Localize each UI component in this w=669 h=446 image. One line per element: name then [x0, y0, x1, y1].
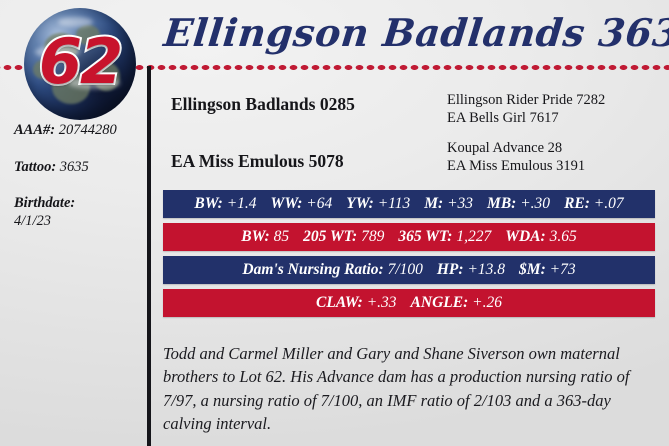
page-title: Ellingson Badlands 3635 [162, 12, 666, 53]
epd-item: RE: +.07 [564, 195, 624, 213]
epd-item: HP: +13.8 [437, 261, 505, 279]
sire-grandparents: Ellingson Rider Pride 7282 EA Bells Girl… [447, 92, 655, 128]
epd-label: ANGLE: [411, 294, 469, 311]
epd-value: +.07 [590, 195, 624, 212]
epd-value: +.30 [516, 195, 550, 212]
epd-item: MB: +.30 [487, 195, 550, 213]
epd-row: BW: +1.4WW: +64YW: +113M: +33MB: +.30RE:… [163, 190, 655, 218]
aaa-number-label: AAA#: [14, 122, 55, 138]
tattoo-label: Tattoo: [14, 159, 56, 175]
epd-value: +33 [443, 195, 473, 212]
epd-item: WW: +64 [271, 195, 333, 213]
epd-label: YW: [346, 195, 374, 212]
epd-label: HP: [437, 261, 464, 278]
lot-number: 62 [24, 8, 136, 120]
birthdate-row: Birthdate: 4/1/23 [14, 195, 140, 230]
epd-label: 365 WT: [398, 228, 452, 245]
aaa-number-value: 20744280 [59, 122, 117, 138]
dam-grandparents: Koupal Advance 28 EA Miss Emulous 3191 [447, 140, 655, 176]
epd-label: RE: [564, 195, 590, 212]
epd-value: +.26 [468, 294, 502, 311]
epd-value: +64 [302, 195, 332, 212]
epd-value: +113 [374, 195, 410, 212]
epd-label: BW: [241, 228, 269, 245]
epd-label: WDA: [505, 228, 545, 245]
epd-item: CLAW: +.33 [316, 294, 397, 312]
epd-item: BW: 85 [241, 228, 289, 246]
epd-item: ANGLE: +.26 [411, 294, 502, 312]
dam-dam-name: EA Miss Emulous 3191 [447, 158, 655, 176]
epd-value: 7/100 [384, 261, 423, 278]
epd-value: +73 [546, 261, 576, 278]
epd-label: $M: [519, 261, 546, 278]
tattoo-value: 3635 [60, 159, 89, 175]
sire-dam-name: EA Bells Girl 7617 [447, 110, 655, 128]
epd-item: 365 WT: 1,227 [398, 228, 491, 246]
birthdate-label: Birthdate: [14, 195, 75, 211]
epd-row: CLAW: +.33ANGLE: +.26 [163, 289, 655, 317]
epd-value: +1.4 [223, 195, 257, 212]
epd-item: M: +33 [424, 195, 473, 213]
epd-bars: BW: +1.4WW: +64YW: +113M: +33MB: +.30RE:… [163, 190, 655, 322]
epd-label: MB: [487, 195, 516, 212]
pedigree-parents-column: Ellingson Badlands 0285 EA Miss Emulous … [171, 92, 443, 172]
epd-item: BW: +1.4 [194, 195, 256, 213]
tattoo-row: Tattoo: 3635 [14, 159, 140, 177]
dam-name: EA Miss Emulous 5078 [171, 151, 443, 172]
epd-label: WW: [271, 195, 303, 212]
epd-label: Dam's Nursing Ratio: [242, 261, 383, 278]
epd-value: 3.65 [546, 228, 577, 245]
epd-item: $M: +73 [519, 261, 576, 279]
epd-item: 205 WT: 789 [303, 228, 384, 246]
sire-name: Ellingson Badlands 0285 [171, 94, 443, 115]
lot-description: Todd and Carmel Miller and Gary and Shan… [163, 342, 663, 436]
pedigree-grandparents-column: Ellingson Rider Pride 7282 EA Bells Girl… [447, 92, 655, 188]
epd-row: Dam's Nursing Ratio: 7/100HP: +13.8$M: +… [163, 256, 655, 284]
epd-label: BW: [194, 195, 222, 212]
aaa-number-row: AAA#: 20744280 [14, 122, 140, 140]
sire-sire-name: Ellingson Rider Pride 7282 [447, 92, 655, 110]
epd-row: BW: 85205 WT: 789365 WT: 1,227WDA: 3.65 [163, 223, 655, 251]
epd-item: YW: +113 [346, 195, 410, 213]
epd-label: M: [424, 195, 443, 212]
birthdate-value: 4/1/23 [14, 213, 140, 231]
lot-number-badge: 62 [24, 8, 136, 120]
registration-info: AAA#: 20744280 Tattoo: 3635 Birthdate: 4… [14, 122, 140, 250]
epd-value: 85 [270, 228, 289, 245]
epd-item: WDA: 3.65 [505, 228, 576, 246]
epd-value: +.33 [363, 294, 397, 311]
lot-catalog-page: 62 Ellingson Badlands 3635 AAA#: 2074428… [0, 0, 669, 446]
epd-value: 789 [357, 228, 384, 245]
epd-item: Dam's Nursing Ratio: 7/100 [242, 261, 422, 279]
pedigree-block: Ellingson Badlands 0285 EA Miss Emulous … [163, 92, 655, 176]
epd-value: 1,227 [452, 228, 491, 245]
vertical-divider [147, 66, 151, 446]
epd-value: +13.8 [464, 261, 505, 278]
epd-label: 205 WT: [303, 228, 357, 245]
epd-label: CLAW: [316, 294, 363, 311]
dam-sire-name: Koupal Advance 28 [447, 140, 655, 158]
